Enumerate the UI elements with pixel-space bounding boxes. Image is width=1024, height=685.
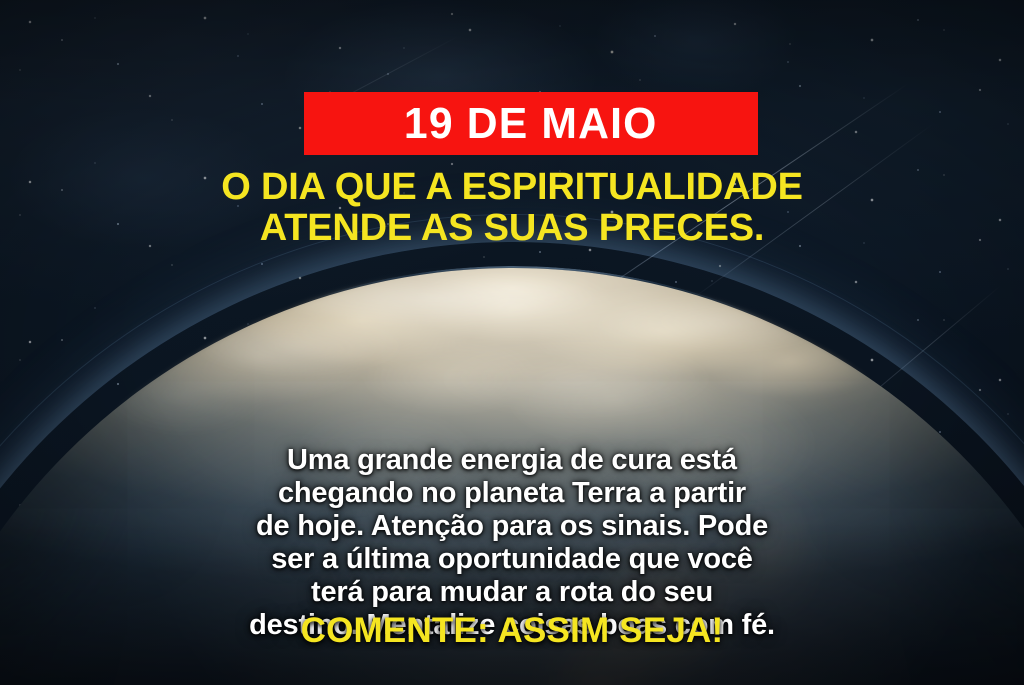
date-banner-label: 19 DE MAIO <box>404 102 658 146</box>
social-media-poster: 19 DE MAIO O DIA QUE A ESPIRITUALIDADE A… <box>0 0 1024 685</box>
body-line-3: de hoje. Atenção para os sinais. Pode <box>0 510 1024 543</box>
body-line-1: Uma grande energia de cura está <box>0 444 1024 477</box>
body-line-2: chegando no planeta Terra a partir <box>0 477 1024 510</box>
poster-content: 19 DE MAIO O DIA QUE A ESPIRITUALIDADE A… <box>0 0 1024 685</box>
call-to-action: COMENTE: ASSIM SEJA! <box>0 612 1024 650</box>
headline-line-1: O DIA QUE A ESPIRITUALIDADE <box>0 167 1024 208</box>
date-banner: 19 DE MAIO <box>304 92 758 155</box>
body-line-4: ser a última oportunidade que você <box>0 543 1024 576</box>
headline: O DIA QUE A ESPIRITUALIDADE ATENDE AS SU… <box>0 167 1024 249</box>
headline-line-2: ATENDE AS SUAS PRECES. <box>0 208 1024 249</box>
body-line-5: terá para mudar a rota do seu <box>0 576 1024 609</box>
cta-label: COMENTE: ASSIM SEJA! <box>301 611 724 650</box>
